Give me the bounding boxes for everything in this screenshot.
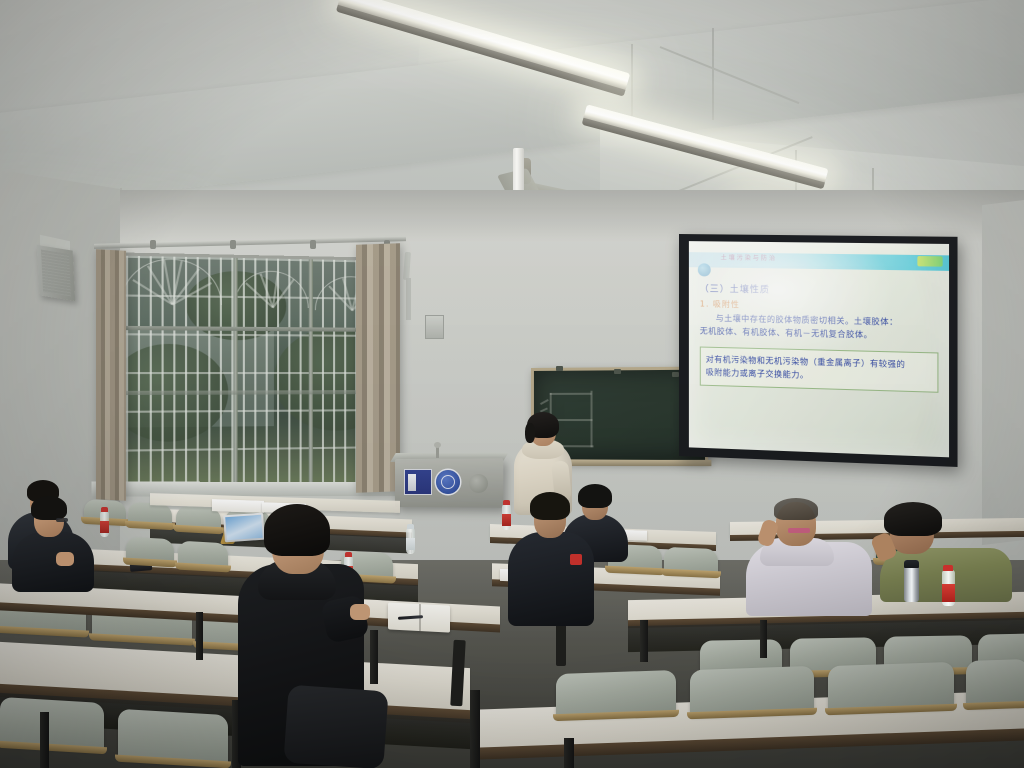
student-foreground-black-hoodie [228, 498, 368, 766]
window-mullion [234, 258, 238, 486]
student-jacket [12, 532, 94, 592]
slide-body: （三）土壤性质 1. 吸附性 与土壤中存在的胶体物质密切相关。土壤胶体： 无机胶… [700, 281, 939, 392]
student-hair [530, 492, 570, 520]
seat-back[interactable] [118, 709, 228, 766]
wall-speaker [37, 245, 76, 301]
wall-junction-box [425, 315, 444, 339]
podium-microphone [436, 446, 439, 458]
water-bottle-clear [406, 528, 415, 554]
steel-thermos[interactable] [904, 560, 919, 602]
seat-back[interactable] [128, 502, 172, 527]
student-jacket [508, 532, 594, 626]
slide-corner-accent [917, 256, 942, 267]
seat-back[interactable] [690, 666, 814, 716]
seat-back[interactable] [556, 670, 676, 718]
seat-back[interactable] [664, 547, 718, 575]
student-hand [350, 604, 370, 620]
chalkboard-clip [672, 372, 679, 377]
seat-back[interactable] [828, 662, 954, 712]
classroom-photo: 土壤污染与防治 （三）土壤性质 1. 吸附性 与土壤中存在的胶体物质密切相关。土… [0, 0, 1024, 768]
slide-title: （三）土壤性质 [700, 281, 939, 298]
podium-knob[interactable] [469, 474, 488, 493]
light-hanger [712, 28, 714, 120]
desk-leg [470, 690, 480, 768]
slide-logo-icon [698, 263, 711, 276]
projection-screen-surface: 土壤污染与防治 （三）土壤性质 1. 吸附性 与土壤中存在的胶体物质密切相关。土… [689, 241, 949, 457]
curtain-hook [150, 240, 156, 249]
student-left-glasses [12, 496, 98, 592]
student-hands [56, 552, 74, 566]
projection-screen-frame: 土壤污染与防治 （三）土壤性质 1. 吸附性 与土壤中存在的胶体物质密切相关。土… [679, 234, 958, 467]
light-hanger [631, 44, 633, 116]
curtain-hook [310, 240, 316, 249]
podium-control-panel[interactable] [404, 469, 432, 495]
student-hair [264, 504, 330, 556]
right-wall [982, 200, 1024, 545]
bag-strap-accent [570, 554, 582, 565]
teacher-hair [525, 423, 535, 443]
wall-conduit [406, 278, 411, 320]
classroom-window [99, 252, 396, 492]
desk-leg [196, 612, 203, 660]
student-center-dark [508, 494, 596, 626]
podium-university-seal-icon [436, 470, 460, 494]
eyeglasses-icon [56, 518, 68, 522]
seat-back[interactable] [126, 537, 174, 565]
desk-leg [564, 738, 574, 768]
window-curtain-left[interactable] [96, 249, 126, 501]
collar-accent [788, 528, 810, 533]
desk-leg [760, 620, 767, 658]
student-legs [283, 685, 388, 768]
seat-back[interactable] [178, 541, 228, 570]
chalkboard-clip [556, 366, 563, 371]
student-right-gray-hoodie [746, 498, 874, 616]
desk-leg [640, 620, 648, 662]
slide-callout-box: 对有机污染物和无机污染物（重金属离子）有较强的 吸附能力或离子交换能力。 [700, 347, 939, 393]
water-bottle-red-label [942, 570, 955, 606]
student-hair [31, 496, 67, 520]
slide-header-text: 土壤污染与防治 [721, 253, 777, 263]
curtain-hook [230, 240, 236, 249]
student-hair [884, 502, 942, 536]
water-bottle-red-label [100, 511, 109, 537]
window-mullion [309, 259, 313, 484]
seat-back[interactable] [0, 697, 104, 751]
wall-shadow [0, 190, 1024, 242]
window-cross-bars [102, 255, 393, 488]
chalkboard-clip [614, 369, 621, 374]
student-hair [774, 498, 818, 520]
seat-back[interactable] [966, 659, 1024, 707]
desk-leg [40, 712, 49, 768]
desk-leg [370, 630, 378, 684]
